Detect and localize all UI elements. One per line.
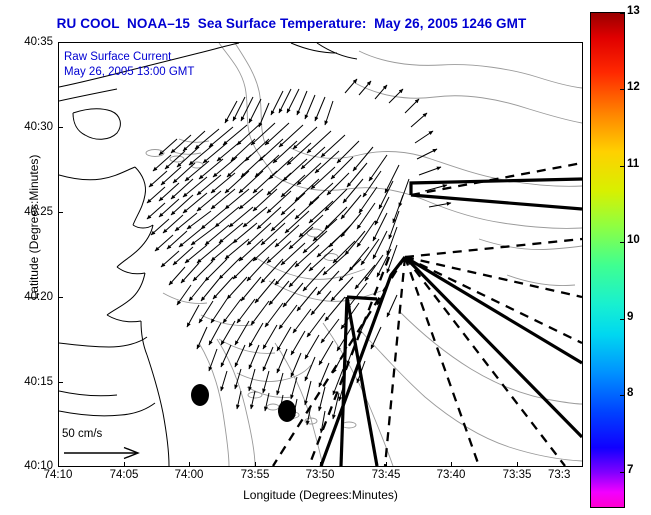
- colorbar-ticklabel-1: 12: [627, 81, 640, 93]
- scale-legend-label: 50 cm/s: [62, 428, 102, 440]
- x-tick-2: [189, 462, 190, 467]
- figure-title: RU COOL NOAA–15 Sea Surface Temperature:…: [0, 16, 583, 31]
- colorbar-ticklabel-3: 10: [627, 234, 640, 246]
- figure-canvas: RU COOL NOAA–15 Sea Surface Temperature:…: [0, 0, 651, 515]
- x-tick-5: [386, 462, 387, 467]
- colorbar-tick-11: [620, 166, 625, 167]
- y-tick-1: [58, 127, 63, 128]
- plot-overlay-graphics: [59, 43, 582, 466]
- x-tick-6: [451, 462, 452, 467]
- y-ticklabel-0: 40:35: [1, 36, 53, 48]
- x-ticklabel-7: 73:35: [487, 469, 547, 481]
- radar-coverage-beams: [273, 163, 582, 466]
- colorbar-ticklabel-6: 7: [627, 464, 633, 476]
- colorbar-tick-12: [620, 89, 625, 90]
- y-tick-0: [58, 42, 63, 43]
- x-ticklabel-1: 74:05: [94, 469, 154, 481]
- colorbar-ticklabel-4: 9: [627, 311, 633, 323]
- y-tick-3: [58, 297, 63, 298]
- bathymetry-contours: [163, 43, 582, 466]
- coastline: [59, 43, 357, 466]
- scale-legend: 50 cm/s: [62, 428, 152, 464]
- colorbar-tick-13: [620, 13, 625, 14]
- x-tick-3: [255, 462, 256, 467]
- y-tick-5: [58, 466, 63, 467]
- arrow-right-icon: [62, 445, 148, 461]
- colorbar-ticklabel-0: 13: [627, 5, 640, 17]
- x-ticklabel-2: 74:00: [159, 469, 219, 481]
- y-tick-4: [58, 382, 63, 383]
- colorbar-tick-10: [620, 242, 625, 243]
- x-tick-8: [582, 462, 583, 467]
- y-ticklabel-4: 40:15: [1, 376, 53, 388]
- x-ticklabel-3: 73:55: [225, 469, 285, 481]
- x-tick-4: [320, 462, 321, 467]
- colorbar-ticklabel-2: 11: [627, 158, 639, 170]
- colorbar-tick-8: [620, 395, 625, 396]
- colorbar-tick-9: [620, 319, 625, 320]
- plot-area[interactable]: [58, 42, 583, 467]
- x-ticklabel-6: 73:40: [421, 469, 481, 481]
- y-tick-2: [58, 212, 63, 213]
- colorbar-tick-7: [620, 472, 625, 473]
- colorbar-ticklabel-5: 8: [627, 387, 633, 399]
- y-ticklabel-5: 40:10: [1, 460, 53, 472]
- x-axis-title: Longitude (Degrees:Minutes): [58, 488, 583, 502]
- x-ticklabel-8: 73:3: [548, 469, 578, 481]
- colorbar[interactable]: [590, 12, 625, 508]
- x-ticklabel-4: 73:50: [290, 469, 350, 481]
- y-axis-title: Latitude (Degrees:Minutes): [27, 107, 41, 347]
- x-tick-7: [517, 462, 518, 467]
- radar-station-markers: [191, 384, 296, 422]
- x-ticklabel-5: 73:45: [356, 469, 416, 481]
